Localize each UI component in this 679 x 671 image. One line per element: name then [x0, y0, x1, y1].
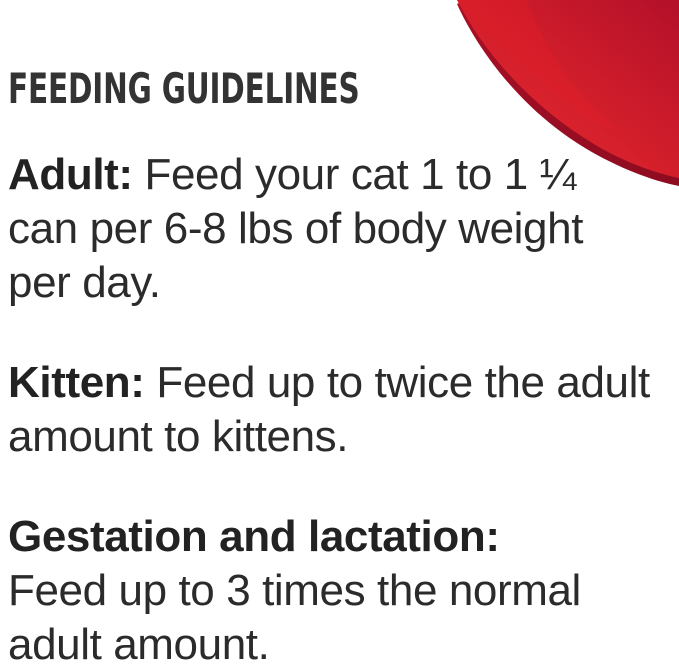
guidelines-content: FEEDING GUIDELINES Adult: Feed your cat … — [8, 66, 656, 671]
guideline-kitten: Kitten: Feed up to twice the adult amoun… — [8, 356, 656, 464]
guideline-adult-label: Adult: — [8, 150, 133, 199]
guideline-gestation-text: Feed up to 3 times the normal adult amou… — [8, 566, 581, 669]
guideline-adult: Adult: Feed your cat 1 to 1 ¼ can per 6-… — [8, 148, 656, 310]
guideline-gestation: Gestation and lactation:Feed up to 3 tim… — [8, 510, 656, 671]
feeding-guidelines-panel: FEEDING GUIDELINES Adult: Feed your cat … — [0, 0, 679, 671]
guideline-gestation-label: Gestation and lactation: — [8, 510, 656, 564]
page-title: FEEDING GUIDELINES — [8, 66, 513, 112]
guideline-kitten-label: Kitten: — [8, 358, 145, 407]
